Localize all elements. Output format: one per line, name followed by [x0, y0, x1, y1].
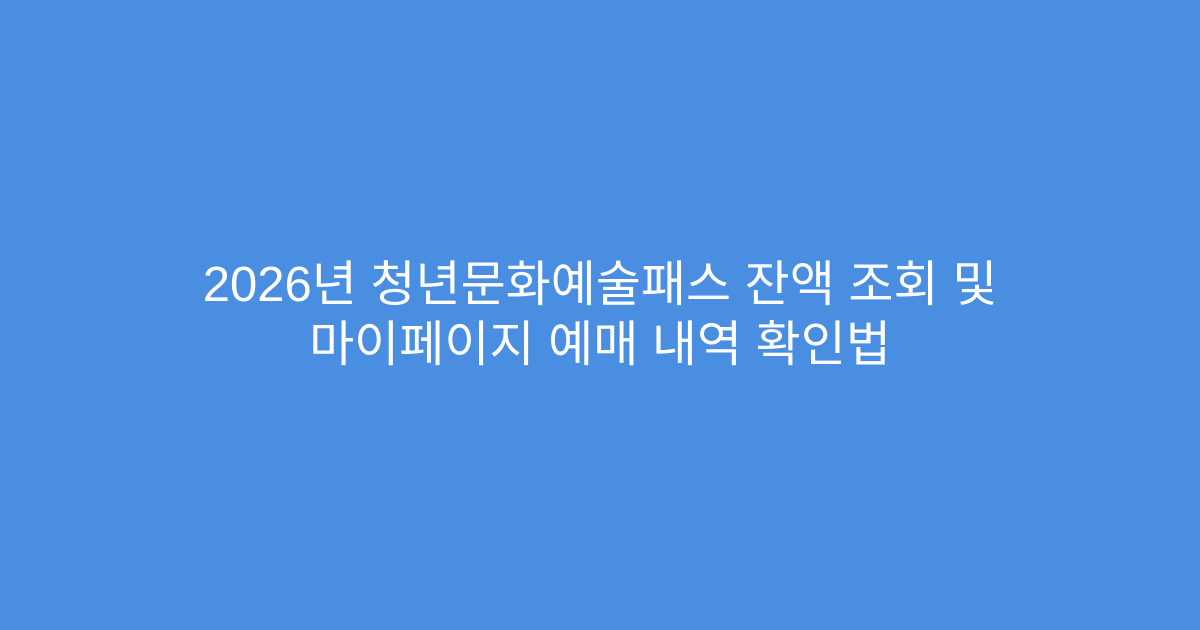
thumbnail-card: 2026년 청년문화예술패스 잔액 조회 및 마이페이지 예매 내역 확인법 [0, 0, 1200, 630]
page-title-line-1: 2026년 청년문화예술패스 잔액 조회 및 [60, 255, 1140, 315]
page-title-line-2: 마이페이지 예매 내역 확인법 [60, 315, 1140, 375]
page-title: 2026년 청년문화예술패스 잔액 조회 및 마이페이지 예매 내역 확인법 [0, 255, 1200, 375]
